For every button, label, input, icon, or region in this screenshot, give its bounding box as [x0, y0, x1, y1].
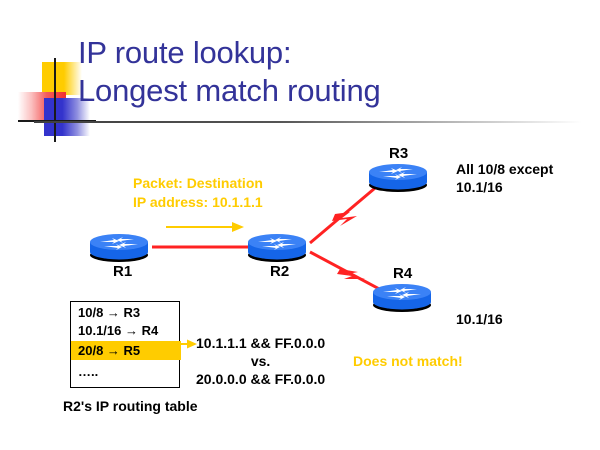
mask-comparison-text: 10.1.1.1 && FF.0.0.0 vs. 20.0.0.0 && FF.… — [196, 334, 325, 388]
routing-table: 10/8 → R3 10.1/16 → R4 20/8 → R5 ….. — [70, 301, 180, 388]
router-r2-label: R2 — [270, 263, 289, 280]
router-r3-label: R3 — [389, 145, 408, 162]
routing-table-caption: R2's IP routing table — [63, 398, 198, 414]
router-r4-label: R4 — [393, 265, 412, 282]
r4-prefix-note: 10.1/16 — [456, 310, 503, 328]
packet-direction-arrow — [166, 222, 244, 232]
table-row[interactable]: ….. — [71, 364, 181, 379]
no-match-note: Does not match! — [353, 352, 463, 371]
link-pulse-marker-r3 — [332, 212, 357, 226]
router-r4-icon[interactable] — [371, 281, 435, 313]
router-r3-icon[interactable] — [367, 161, 431, 193]
packet-destination-note: Packet: Destination IP address: 10.1.1.1 — [133, 174, 263, 212]
router-r1-label: R1 — [113, 263, 132, 280]
r3-prefix-note: All 10/8 except 10.1/16 — [456, 160, 553, 196]
slide-canvas: IP route lookup: Longest match routing — [0, 0, 600, 450]
table-row[interactable]: 10/8 → R3 — [71, 305, 181, 320]
router-r2-icon[interactable] — [246, 231, 310, 263]
table-row-highlighted[interactable]: 20/8 → R5 — [71, 341, 181, 360]
router-r1-icon[interactable] — [88, 231, 152, 263]
table-row[interactable]: 10.1/16 → R4 — [71, 323, 181, 338]
